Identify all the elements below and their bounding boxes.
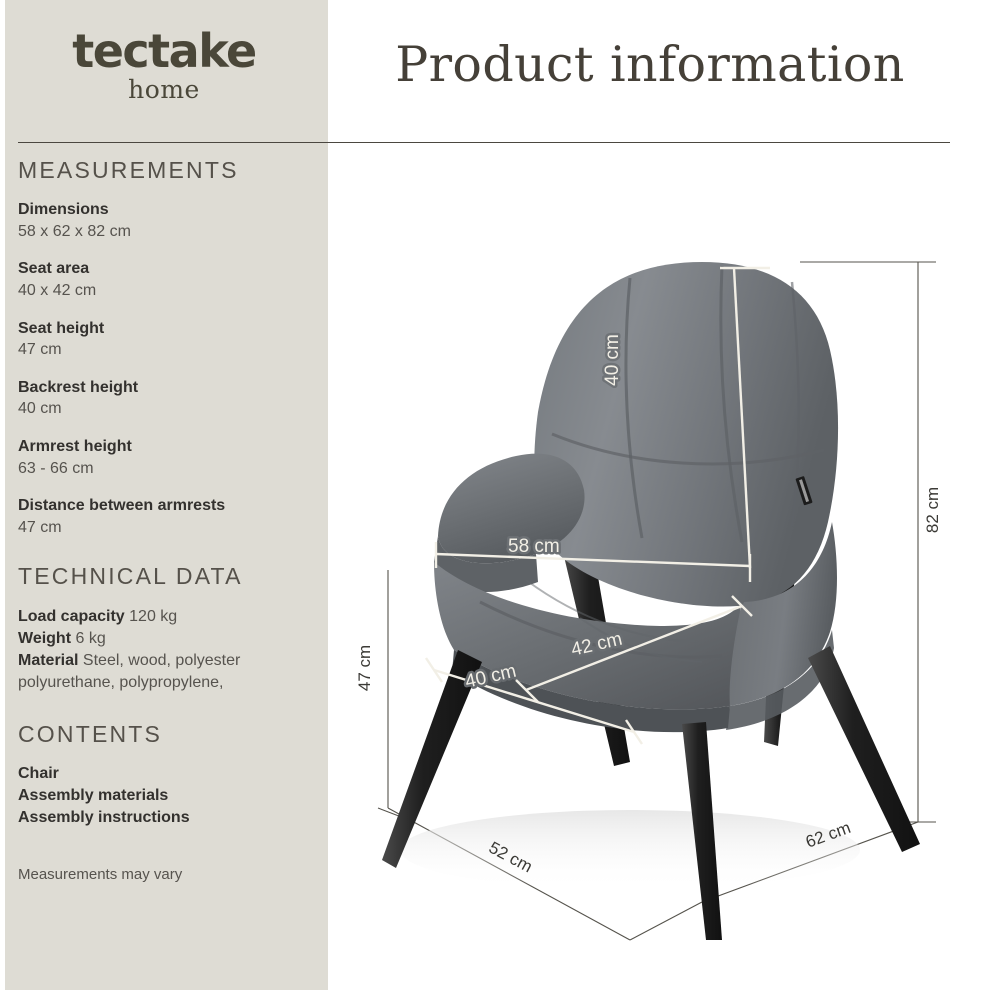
header-divider (18, 142, 950, 143)
spec-value: 40 x 42 cm (18, 280, 318, 302)
brand-wordmark: tectake (0, 28, 328, 74)
spec-label: Seat area (18, 258, 318, 280)
spec-label: Seat height (18, 318, 318, 340)
spec-item-backrest-height: Backrest height 40 cm (18, 377, 318, 420)
dimension-label-seat-height-47: 47 cm (355, 645, 374, 691)
technical-data-heading: TECHNICAL DATA (18, 564, 318, 589)
spec-label: Distance between armrests (18, 495, 318, 517)
tech-item-material-continued: polyurethane, polypropylene, (18, 672, 318, 694)
list-item: Chair (18, 763, 318, 785)
contents-list: Chair Assembly materials Assembly instru… (18, 763, 318, 829)
spec-label: Armrest height (18, 436, 318, 458)
contents-heading: CONTENTS (18, 722, 318, 747)
spec-value: 47 cm (18, 339, 318, 361)
dimension-label-total-height-82: 82 cm (923, 487, 942, 533)
spec-item-seat-height: Seat height 47 cm (18, 318, 318, 361)
tech-label: Material (18, 652, 78, 669)
spec-value: 47 cm (18, 517, 318, 539)
list-item: Assembly instructions (18, 807, 318, 829)
product-illustration: 58 cm 40 cm 42 cm 40 cm 47 cm 52 cm 62 c… (330, 150, 1000, 1000)
spec-item-armrest-height: Armrest height 63 - 66 cm (18, 436, 318, 479)
spec-label: Backrest height (18, 377, 318, 399)
measurements-heading: MEASUREMENTS (18, 158, 318, 183)
spec-item-dimensions: Dimensions 58 x 62 x 82 cm (18, 199, 318, 242)
ground-shadow (400, 810, 860, 890)
dimension-label-width-58: 58 cm (508, 536, 560, 557)
spec-item-seat-area: Seat area 40 x 42 cm (18, 258, 318, 301)
tech-item-load-capacity: Load capacity 120 kg (18, 606, 318, 628)
brand-logo: tectake home (0, 28, 328, 102)
spec-item-armrest-distance: Distance between armrests 47 cm (18, 495, 318, 538)
measurement-disclaimer: Measurements may vary (18, 864, 318, 885)
spec-value: 40 cm (18, 398, 318, 420)
page-title: Product information (340, 36, 960, 93)
tech-value: 120 kg (129, 608, 177, 625)
technical-data-list: Load capacity 120 kg Weight 6 kg Materia… (18, 606, 318, 694)
tech-item-weight: Weight 6 kg (18, 628, 318, 650)
sidebar-content: MEASUREMENTS Dimensions 58 x 62 x 82 cm … (18, 158, 318, 885)
tech-label: Load capacity (18, 608, 125, 625)
chair-backrest (534, 262, 838, 607)
brand-subtitle: home (0, 77, 328, 102)
tech-item-material: Material Steel, wood, polyester (18, 650, 318, 672)
spec-label: Dimensions (18, 199, 318, 221)
dimension-label-backrest-40: 40 cm (602, 334, 623, 386)
spec-value: 63 - 66 cm (18, 458, 318, 480)
tech-value: Steel, wood, polyester (83, 652, 240, 669)
measurements-list: Dimensions 58 x 62 x 82 cm Seat area 40 … (18, 199, 318, 538)
chair-armrest-left (434, 454, 585, 592)
list-item: Assembly materials (18, 785, 318, 807)
tech-value: 6 kg (75, 630, 105, 647)
spec-value: 58 x 62 x 82 cm (18, 221, 318, 243)
tech-label: Weight (18, 630, 71, 647)
